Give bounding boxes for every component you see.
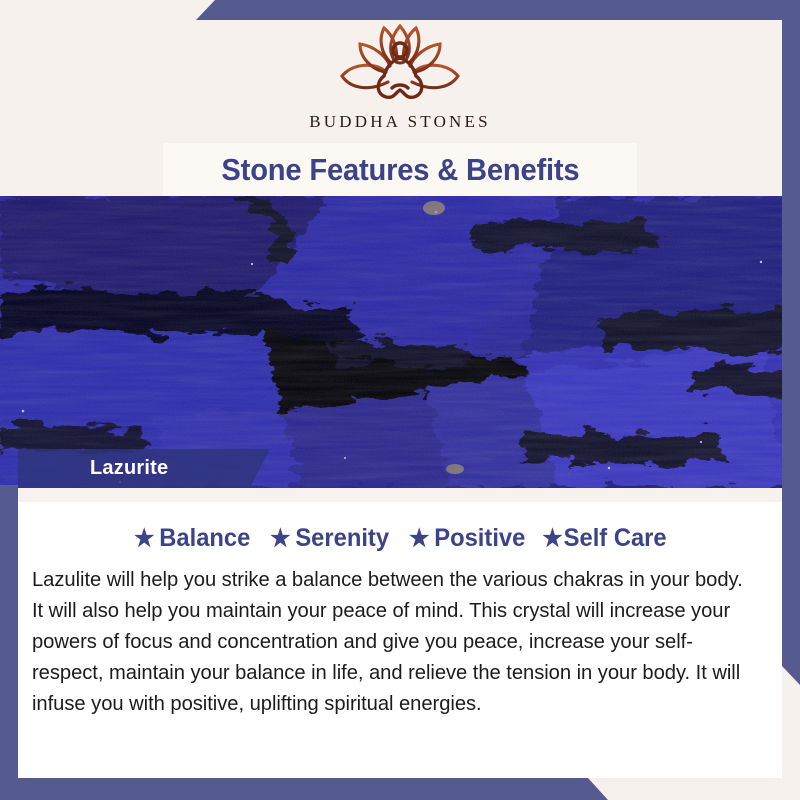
benefit-label: Serenity: [295, 524, 389, 553]
benefit-label: Balance: [159, 524, 250, 553]
star-icon: ★: [542, 527, 562, 551]
lazurite-stone-photo: [0, 196, 800, 488]
decor-left-bar: [0, 485, 18, 800]
benefits-list: ★ Balance ★ Serenity ★ Positive ★ Self C…: [18, 524, 782, 553]
content-card: ★ Balance ★ Serenity ★ Positive ★ Self C…: [18, 488, 782, 778]
stone-description: Lazulite will help you strike a balance …: [32, 564, 755, 719]
benefit-label: Positive: [434, 524, 525, 553]
benefit-label: Self Care: [563, 524, 666, 553]
benefit-item: ★ Positive: [409, 524, 525, 553]
benefit-item: ★ Serenity: [270, 524, 389, 553]
star-icon: ★: [270, 527, 290, 551]
stone-name: Lazurite: [18, 457, 168, 480]
page-title: Stone Features & Benefits: [221, 152, 579, 188]
card-top-divider: [18, 488, 782, 502]
star-icon: ★: [409, 527, 429, 551]
stone-name-label: Lazurite: [18, 449, 270, 488]
benefit-item: ★ Balance: [134, 524, 250, 553]
star-icon: ★: [134, 527, 154, 551]
decor-bottom-bar: [0, 778, 800, 800]
brand-logo: BUDDHA STONES: [0, 20, 800, 132]
title-banner: Stone Features & Benefits: [163, 143, 637, 196]
brand-name: BUDDHA STONES: [309, 112, 491, 132]
benefit-item: ★ Self Care: [542, 524, 666, 553]
lotus-meditation-icon: [334, 20, 466, 106]
decor-right-bar: [782, 0, 800, 685]
stone-info-poster: BUDDHA STONES Stone Features & Benefits …: [0, 0, 800, 800]
